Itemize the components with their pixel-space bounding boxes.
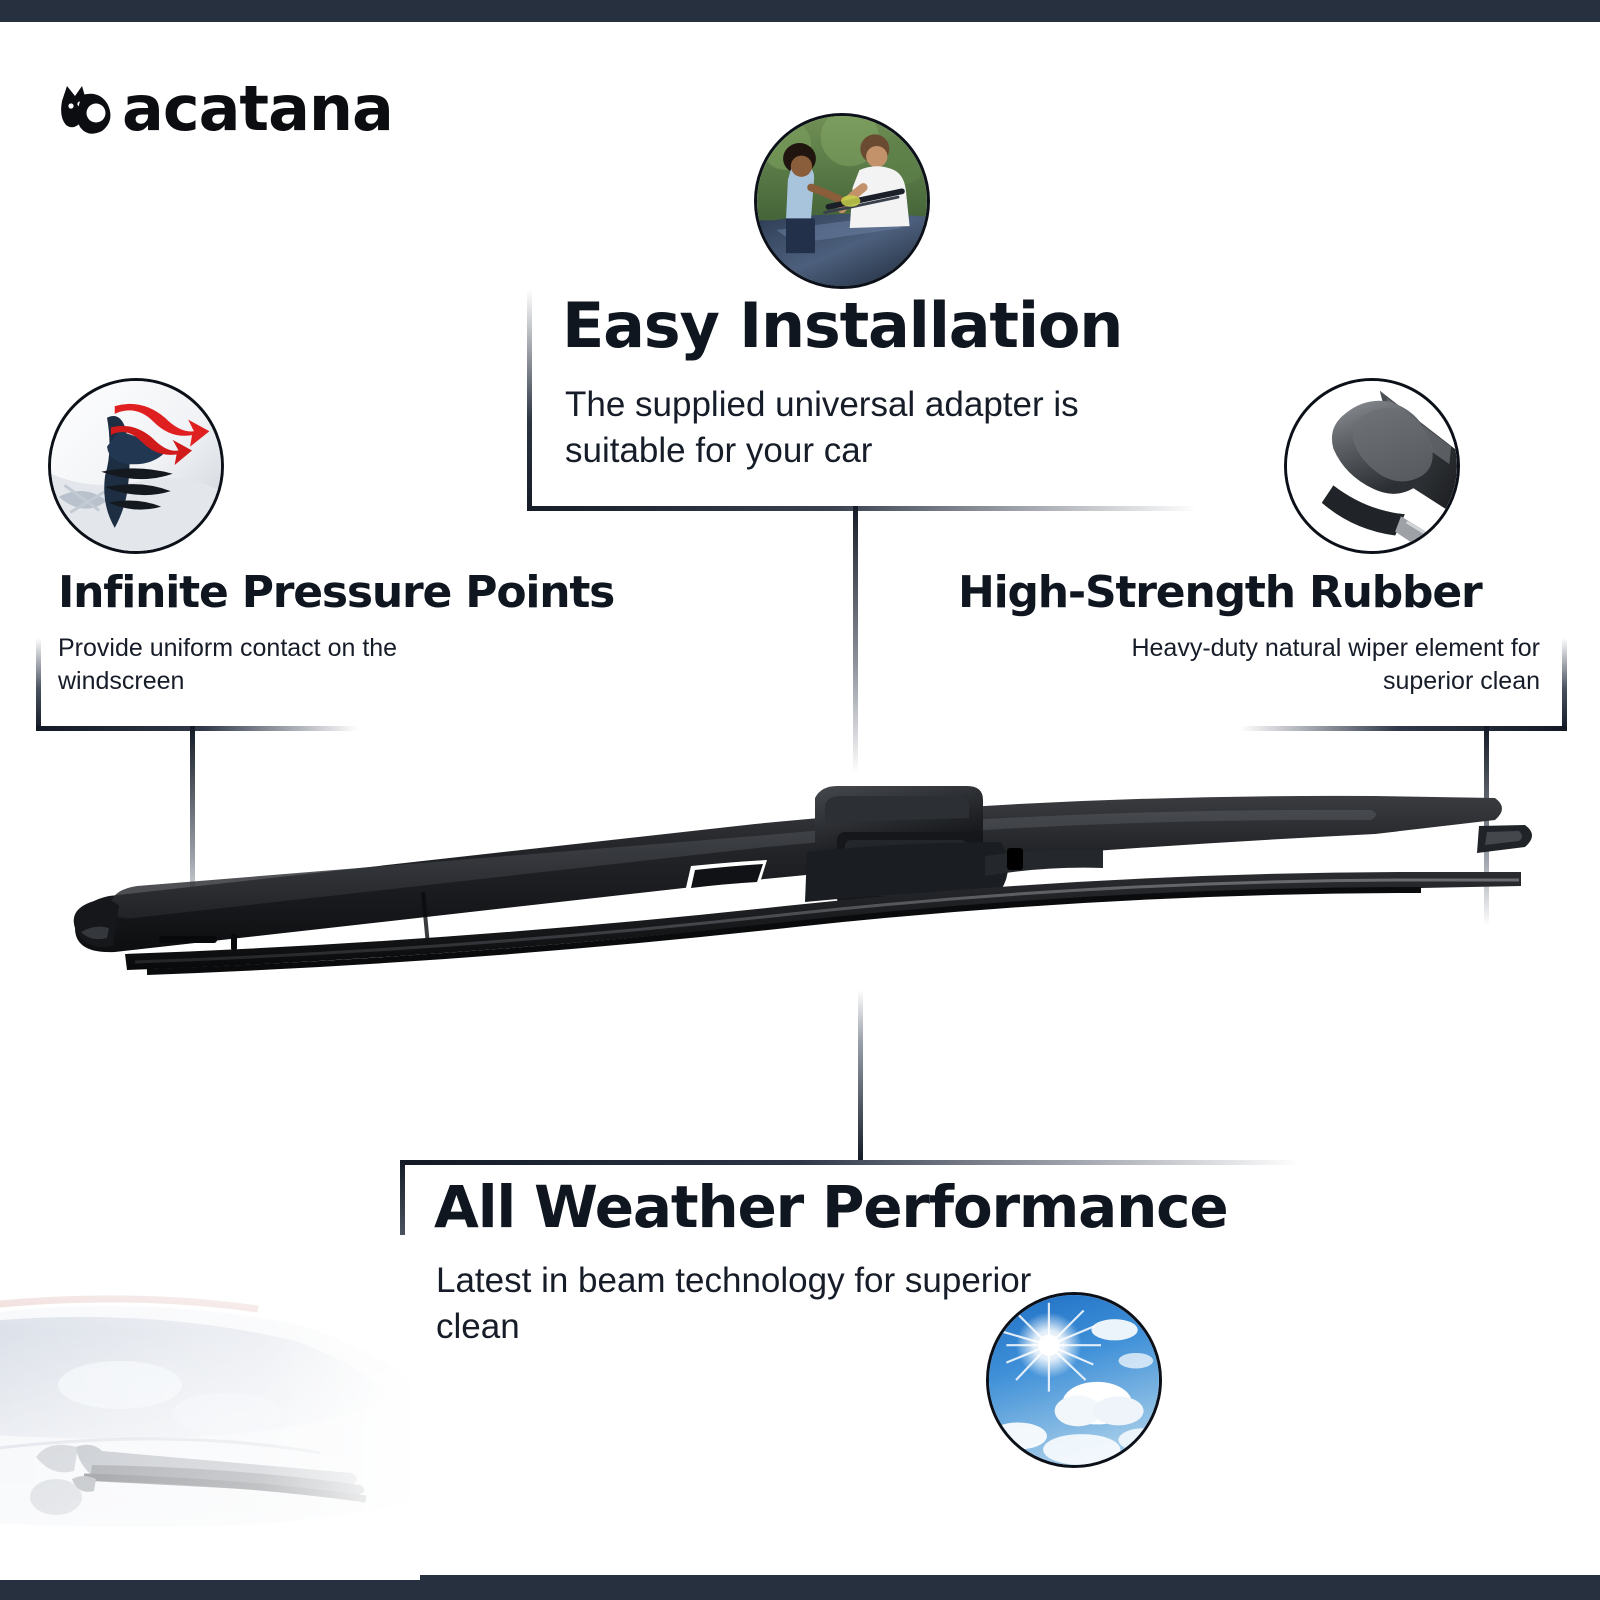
infographic-canvas: acatana [0,0,1600,1600]
connector-line-easy-installation-vertical [527,290,532,508]
cat-head-icon [58,81,116,137]
feature-description-easy-installation: The supplied universal adapter is suitab… [565,382,1185,473]
connector-line-pressure-points-horizontal [36,726,358,731]
connector-line-all-weather-horizontal [400,1160,1300,1165]
connector-line-easy-installation-horizontal [527,506,1197,511]
brand-logo: acatana [58,78,393,140]
connector-line-rubber-vertical [1562,638,1567,730]
rear-wiper-blade-icon [55,740,1535,990]
feature-title-easy-installation: Easy Installation [562,294,1122,358]
feature-description-all-weather-performance: Latest in beam technology for superior c… [436,1258,1056,1349]
feature-title-high-strength-rubber: High-Strength Rubber [958,570,1482,615]
pressure-points-icon [48,378,224,554]
connector-line-rubber-horizontal [1240,726,1567,731]
connector-line-easy-installation-drop [853,506,858,774]
top-border-bar [0,0,1600,22]
brand-name: acatana [122,78,393,140]
car-rear-windscreen-wiper-photo-icon [0,1235,420,1580]
connector-line-pressure-points-vertical [36,638,41,730]
installation-photo-icon [754,113,930,289]
rubber-blade-tip-icon [1284,378,1460,554]
feature-description-infinite-pressure-points: Provide uniform contact on the windscree… [58,632,498,697]
feature-title-infinite-pressure-points: Infinite Pressure Points [58,570,614,615]
feature-title-all-weather-performance: All Weather Performance [434,1178,1228,1238]
feature-description-high-strength-rubber: Heavy-duty natural wiper element for sup… [1060,632,1540,697]
connector-line-all-weather-riser [858,990,863,1162]
